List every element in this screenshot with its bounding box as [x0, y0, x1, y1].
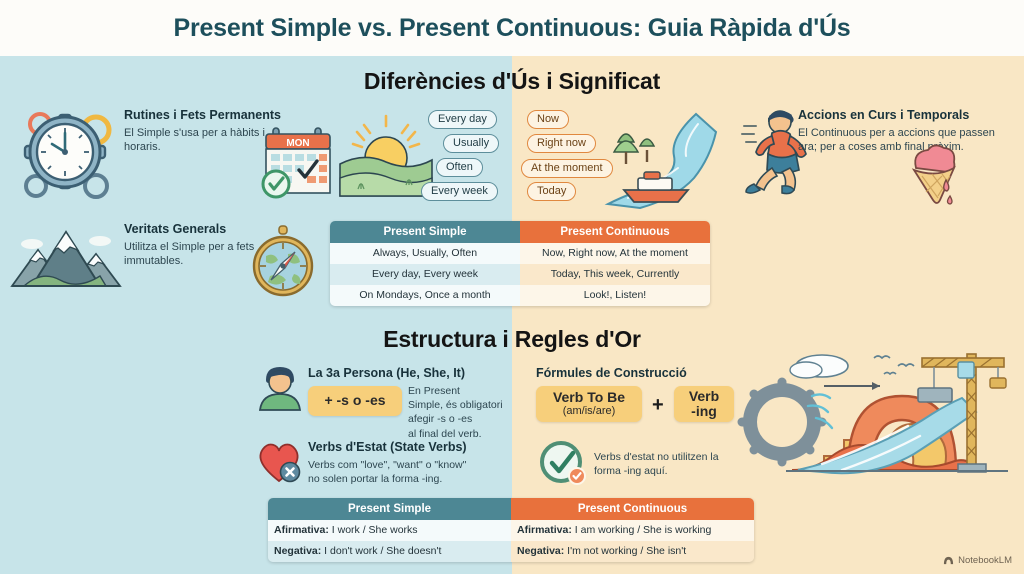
forms-comparison-table: Present Simple Present Continuous Afirma…	[268, 498, 754, 562]
chip-verb-ing-line2: -ing	[691, 404, 717, 419]
state-verbs-body-line2: no solen portar la forma -ing.	[308, 472, 518, 486]
block-ongoing-actions: Accions en Curs i Temporals El Continuou…	[798, 108, 998, 155]
clock-gears-icon	[8, 98, 120, 204]
table2-label-negative-continuous: Negativa:	[517, 545, 564, 557]
heart-blocked-icon	[255, 437, 305, 485]
block-ongoing-heading: Accions en Curs i Temporals	[798, 108, 998, 124]
page-title: Present Simple vs. Present Continuous: G…	[173, 14, 850, 43]
table2-cell-affirmative-simple: Afirmativa: I work / She works	[268, 520, 511, 541]
table1-header-continuous: Present Continuous	[520, 221, 710, 243]
construction-crane-icon	[762, 344, 1018, 494]
block-routines: Rutines i Fets Permanents El Simple s'us…	[124, 108, 284, 155]
calendar-icon: MON	[262, 124, 340, 200]
state-verbs-body-line1: Verbs com "love", "want" o "know"	[308, 458, 518, 472]
table1-header-simple: Present Simple	[330, 221, 520, 243]
third-person-note-line4: al final del verb.	[408, 427, 514, 441]
pill-continuous-0[interactable]: Now	[527, 110, 569, 129]
chip-verb-to-be-line2: (am/is/are)	[563, 405, 616, 418]
chip-verb-to-be: Verb To Be (am/is/are)	[536, 386, 642, 422]
pill-simple-3[interactable]: Every week	[421, 182, 498, 201]
table2-label-affirmative-simple: Afirmativa:	[274, 524, 329, 536]
third-person-note-line3: afegir -s o -es	[408, 412, 514, 426]
chip-verb-ing-line1: Verb	[689, 389, 719, 404]
svg-text:MON: MON	[286, 138, 309, 149]
title-band: Present Simple vs. Present Continuous: G…	[0, 0, 1024, 56]
table2-header-simple: Present Simple	[268, 498, 511, 520]
table1-cell-r2c0: On Mondays, Once a month	[330, 285, 520, 306]
third-person-heading: La 3a Persona (He, She, It)	[308, 366, 465, 380]
notebooklm-icon	[943, 555, 954, 566]
third-person-note: En Present Simple, és obligatori afegir …	[408, 384, 514, 441]
table1-cell-r1c0: Every day, Every week	[330, 264, 520, 285]
third-person-note-line2: Simple, és obligatori	[408, 398, 514, 412]
usage-comparison-table: Present Simple Present Continuous Always…	[330, 221, 710, 306]
compass-icon	[250, 224, 318, 300]
block-general-truths: Veritats Generals Utilitza el Simple per…	[124, 222, 269, 269]
table2-value-negative-continuous: I'm not working / She isn't	[564, 545, 686, 557]
chip-verb-ing: Verb -ing	[674, 386, 734, 422]
check-circle-icon	[539, 440, 587, 486]
river-boat-icon	[600, 112, 740, 208]
table2-label-negative-simple: Negativa:	[274, 545, 321, 557]
table2-header-continuous: Present Continuous	[511, 498, 754, 520]
pill-simple-2[interactable]: Often	[436, 158, 483, 177]
pill-continuous-3[interactable]: Today	[527, 182, 576, 201]
person-avatar-icon	[256, 364, 304, 412]
formulas-heading: Fórmules de Construcció	[536, 366, 687, 380]
pill-simple-0[interactable]: Every day	[428, 110, 497, 129]
third-person-note-line1: En Present	[408, 384, 514, 398]
notebooklm-watermark: NotebookLM	[943, 555, 1012, 566]
state-verbs-heading: Verbs d'Estat (State Verbs)	[308, 440, 467, 454]
table2-value-affirmative-continuous: I am working / She is working	[572, 524, 711, 536]
table2-cell-negative-continuous: Negativa: I'm not working / She isn't	[511, 541, 754, 562]
chip-s-or-es: + -s o -es	[308, 386, 402, 416]
table2-value-negative-simple: I don't work / She doesn't	[321, 545, 441, 557]
table1-cell-r0c1: Now, Right now, At the moment	[520, 243, 710, 264]
table2-label-affirmative-continuous: Afirmativa:	[517, 524, 572, 536]
block-routines-body: El Simple s'usa per a hàbits i horaris.	[124, 126, 284, 155]
table2-cell-negative-simple: Negativa: I don't work / She doesn't	[268, 541, 511, 562]
table2-value-affirmative-simple: I work / She works	[329, 524, 418, 536]
infographic-poster: Present Simple vs. Present Continuous: G…	[0, 0, 1024, 574]
chip-s-or-es-label: + -s o -es	[324, 393, 385, 408]
block-ongoing-body: El Continuous per a accions que passen a…	[798, 126, 998, 155]
block-routines-heading: Rutines i Fets Permanents	[124, 108, 284, 124]
table2-cell-affirmative-continuous: Afirmativa: I am working / She is workin…	[511, 520, 754, 541]
sunrise-hills-icon	[340, 112, 432, 196]
ice-cream-icon	[902, 140, 966, 210]
pill-continuous-1[interactable]: Right now	[527, 134, 596, 153]
table1-cell-r0c0: Always, Usually, Often	[330, 243, 520, 264]
state-verbs-body: Verbs com "love", "want" o "know" no sol…	[308, 458, 518, 486]
notebooklm-label: NotebookLM	[958, 555, 1012, 566]
block-truths-body: Utilitza el Simple per a fets immutables…	[124, 240, 269, 269]
table1-cell-r2c1: Look!, Listen!	[520, 285, 710, 306]
pill-continuous-2[interactable]: At the moment	[521, 159, 613, 178]
pill-simple-1[interactable]: Usually	[443, 134, 499, 153]
chip-verb-to-be-line1: Verb To Be	[553, 390, 625, 405]
mountains-icon	[8, 222, 124, 298]
section-1-heading: Diferències d'Ús i Significat	[0, 68, 1024, 95]
plus-operator: +	[652, 394, 664, 417]
block-truths-heading: Veritats Generals	[124, 222, 269, 238]
table1-cell-r1c1: Today, This week, Currently	[520, 264, 710, 285]
